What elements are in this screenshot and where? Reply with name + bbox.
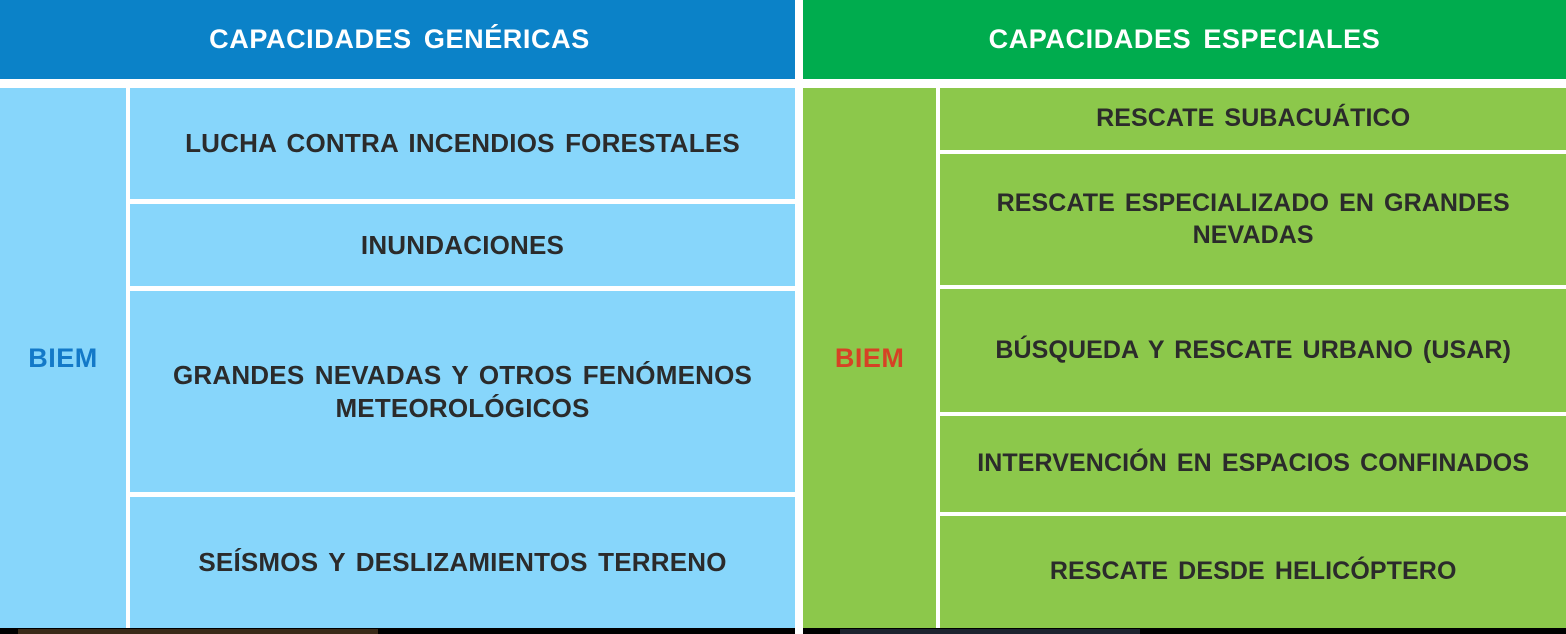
special-capabilities-table: BIEM RESCATE SUBACUÁTICO RESCATE ESPECIA… [803, 88, 1566, 628]
generic-capabilities-panel: CAPACIDADES GENÉRICAS BIEM LUCHA CONTRA … [0, 0, 795, 628]
table-row: SEÍSMOS Y DESLIZAMIENTOS TERRENO [130, 497, 795, 628]
table-row: LUCHA CONTRA INCENDIOS FORESTALES [130, 88, 795, 199]
special-capabilities-panel: CAPACIDADES ESPECIALES BIEM RESCATE SUBA… [803, 0, 1566, 628]
table-row: INUNDACIONES [130, 204, 795, 286]
bottom-edge-artifact-left [18, 629, 378, 634]
special-capabilities-header: CAPACIDADES ESPECIALES [803, 0, 1566, 79]
bottom-edge-artifact-right [840, 629, 1140, 634]
table-row: BÚSQUEDA Y RESCATE URBANO (USAR) [940, 289, 1566, 412]
generic-unit-label-biem: BIEM [0, 88, 126, 628]
generic-capabilities-rows: LUCHA CONTRA INCENDIOS FORESTALES INUNDA… [130, 88, 795, 628]
capabilities-slide: CAPACIDADES GENÉRICAS BIEM LUCHA CONTRA … [0, 0, 1566, 634]
special-unit-label-biem: BIEM [803, 88, 936, 628]
table-row: GRANDES NEVADAS Y OTROS FENÓMENOS METEOR… [130, 291, 795, 492]
generic-capabilities-header: CAPACIDADES GENÉRICAS [0, 0, 795, 79]
table-row: RESCATE SUBACUÁTICO [940, 88, 1566, 150]
table-row: RESCATE ESPECIALIZADO EN GRANDES NEVADAS [940, 154, 1566, 285]
generic-capabilities-table: BIEM LUCHA CONTRA INCENDIOS FORESTALES I… [0, 88, 795, 628]
table-row: RESCATE DESDE HELICÓPTERO [940, 516, 1566, 628]
table-row: INTERVENCIÓN EN ESPACIOS CONFINADOS [940, 416, 1566, 512]
special-capabilities-rows: RESCATE SUBACUÁTICO RESCATE ESPECIALIZAD… [940, 88, 1566, 628]
